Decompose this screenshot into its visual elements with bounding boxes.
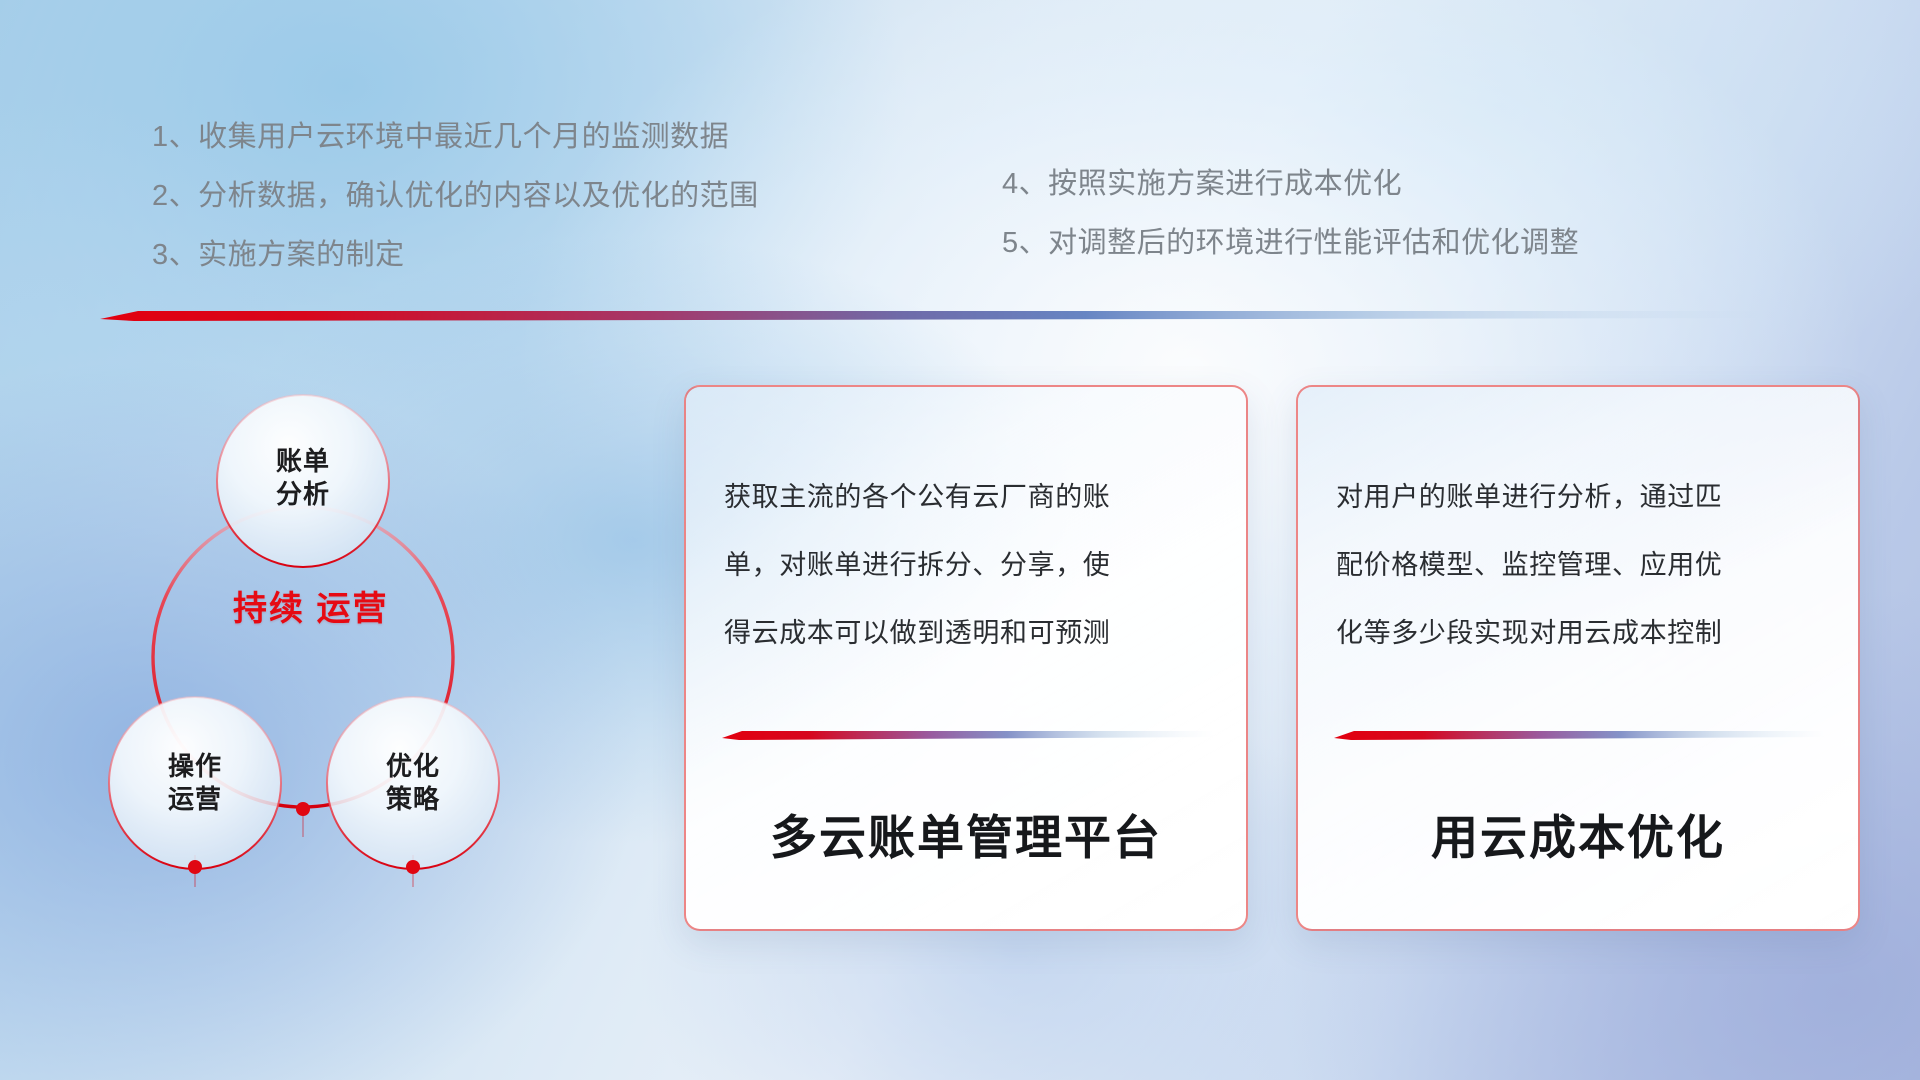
feature-card-multi-cloud-billing-platform[interactable]: 获取主流的各个公有云厂商的账 单，对账单进行拆分、分享，使 得云成本可以做到透明… xyxy=(684,385,1248,931)
continuous-operations-venn-diagram: 账单 分析 操作 运营 优化 策略 持续 运营 xyxy=(95,345,655,975)
venn-center-label: 持续 运营 xyxy=(233,587,373,631)
venn-node-bottom-left-line2: 运营 xyxy=(139,783,251,816)
venn-node-top-line2: 分析 xyxy=(247,478,359,511)
card-body-line-1: 获取主流的各个公有云厂商的账 xyxy=(724,463,1212,531)
process-step-3: 3、实施方案的制定 xyxy=(152,226,759,285)
venn-node-label-bottom-right: 优化 策略 xyxy=(357,750,469,816)
process-step-2: 2、分析数据，确认优化的内容以及优化的范围 xyxy=(152,167,759,226)
feature-card-cloud-cost-optimization[interactable]: 对用户的账单进行分析，通过匹 配价格模型、监控管理、应用优 化等多少段实现对用云… xyxy=(1296,385,1860,931)
venn-node-bottom-right-line1: 优化 xyxy=(386,751,440,781)
card-accent-rule xyxy=(1334,729,1826,741)
process-step-5: 5、对调整后的环境进行性能评估和优化调整 xyxy=(1002,214,1579,273)
venn-node-top-line1: 账单 xyxy=(276,446,330,476)
process-step-4: 4、按照实施方案进行成本优化 xyxy=(1002,155,1579,214)
process-step-1: 1、收集用户云环境中最近几个月的监测数据 xyxy=(152,108,759,167)
card-body-line-3: 化等多少段实现对用云成本控制 xyxy=(1336,599,1824,667)
card-accent-rule xyxy=(722,729,1214,741)
venn-node-bottom-left-line1: 操作 xyxy=(168,751,222,781)
card-body-line-2: 配价格模型、监控管理、应用优 xyxy=(1336,531,1824,599)
section-divider xyxy=(100,307,1800,325)
card-body-text: 对用户的账单进行分析，通过匹 配价格模型、监控管理、应用优 化等多少段实现对用云… xyxy=(1336,463,1824,667)
card-body-line-3: 得云成本可以做到透明和可预测 xyxy=(724,599,1212,667)
venn-center-line1: 持续 xyxy=(233,590,305,628)
process-steps-left-column: 1、收集用户云环境中最近几个月的监测数据 2、分析数据，确认优化的内容以及优化的… xyxy=(152,108,759,285)
process-steps-right-column: 4、按照实施方案进行成本优化 5、对调整后的环境进行性能评估和优化调整 xyxy=(1002,155,1579,273)
venn-center-line2: 运营 xyxy=(316,590,388,628)
card-title: 多云账单管理平台 xyxy=(686,799,1246,868)
slide-canvas: 1、收集用户云环境中最近几个月的监测数据 2、分析数据，确认优化的内容以及优化的… xyxy=(0,0,1920,1080)
card-body-line-2: 单，对账单进行拆分、分享，使 xyxy=(724,531,1212,599)
card-body-line-1: 对用户的账单进行分析，通过匹 xyxy=(1336,463,1824,531)
card-body-text: 获取主流的各个公有云厂商的账 单，对账单进行拆分、分享，使 得云成本可以做到透明… xyxy=(724,463,1212,667)
venn-node-label-top: 账单 分析 xyxy=(247,445,359,511)
venn-node-bottom-right-line2: 策略 xyxy=(357,783,469,816)
card-title: 用云成本优化 xyxy=(1298,799,1858,868)
venn-node-label-bottom-left: 操作 运营 xyxy=(139,750,251,816)
